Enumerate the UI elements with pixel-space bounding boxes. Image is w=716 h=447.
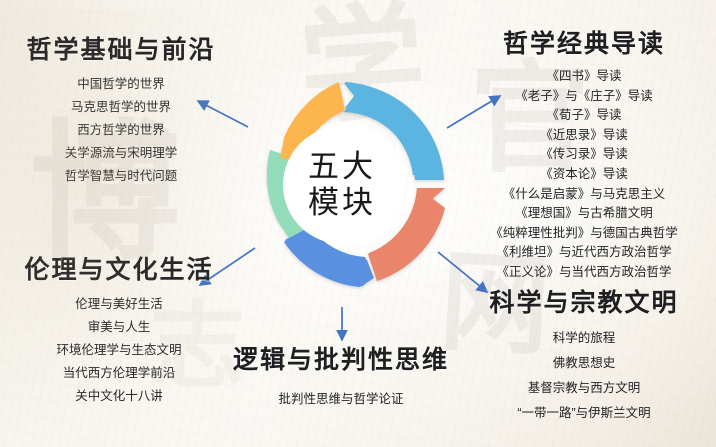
list-item[interactable]: 《四书》导读 (452, 67, 716, 87)
list-item[interactable]: 批判性思维与哲学论证 (216, 388, 466, 410)
module-foundations-list: 中国哲学的世界 马克思哲学的世界 西方哲学的世界 关学源流与宋明理学 哲学智慧与… (6, 73, 236, 188)
list-item[interactable]: 《正义论》与当代西方政治哲学 (452, 263, 716, 283)
list-item[interactable]: 《理想国》与古希腊文明 (452, 204, 716, 224)
ring-inner-disc-top (283, 126, 401, 244)
list-item[interactable]: 审美与人生 (4, 316, 234, 339)
module-classics-list: 《四书》导读 《老子》与《庄子》导读 《荀子》导读 《近思录》导读 《传习录》导… (452, 67, 716, 283)
list-item[interactable]: 中国哲学的世界 (6, 73, 236, 96)
list-item[interactable]: 基督宗教与西方文明 (456, 376, 712, 401)
list-item[interactable]: 当代西方伦理学前沿 (4, 362, 234, 385)
module-foundations: 哲学基础与前沿 中国哲学的世界 马克思哲学的世界 西方哲学的世界 关学源流与宋明… (6, 30, 236, 188)
module-science: 科学与宗教文明 科学的旅程 佛教思想史 基督宗教与西方文明 “一带一路”与伊斯兰… (456, 283, 712, 426)
list-item[interactable]: 《老子》与《庄子》导读 (452, 87, 716, 107)
list-item[interactable]: 《纯粹理性批判》与德国古典哲学 (452, 224, 716, 244)
list-item[interactable]: 《什么是启蒙》与马克思主义 (452, 185, 716, 205)
module-classics: 哲学经典导读 《四书》导读 《老子》与《庄子》导读 《荀子》导读 《近思录》导读… (452, 24, 716, 283)
list-item[interactable]: 科学的旅程 (456, 326, 712, 351)
five-modules-ring: 五大 模块 (227, 70, 457, 300)
list-item[interactable]: 哲学智慧与时代问题 (6, 165, 236, 188)
module-ethics-list: 伦理与美好生活 审美与人生 环境伦理学与生态文明 当代西方伦理学前沿 关中文化十… (4, 293, 234, 408)
list-item[interactable]: 伦理与美好生活 (4, 293, 234, 316)
list-item[interactable]: 环境伦理学与生态文明 (4, 339, 234, 362)
module-classics-title: 哲学经典导读 (452, 24, 716, 60)
list-item[interactable]: 《荀子》导读 (452, 106, 716, 126)
list-item[interactable]: “一带一路”与伊斯兰文明 (456, 401, 712, 426)
list-item[interactable]: 马克思哲学的世界 (6, 96, 236, 119)
list-item[interactable]: 《传习录》导读 (452, 145, 716, 165)
list-item[interactable]: 佛教思想史 (456, 351, 712, 376)
module-science-list: 科学的旅程 佛教思想史 基督宗教与西方文明 “一带一路”与伊斯兰文明 (456, 326, 712, 426)
module-science-title: 科学与宗教文明 (456, 283, 712, 319)
poster-canvas: 博 学 官 网 志 (0, 0, 716, 447)
list-item[interactable]: 关中文化十八讲 (4, 385, 234, 408)
list-item[interactable]: 关学源流与宋明理学 (6, 142, 236, 165)
module-logic-list: 批判性思维与哲学论证 (216, 388, 466, 410)
module-logic: 逻辑与批判性思维 批判性思维与哲学论证 (216, 340, 466, 410)
list-item[interactable]: 《近思录》导读 (452, 126, 716, 146)
module-foundations-title: 哲学基础与前沿 (6, 30, 236, 66)
list-item[interactable]: 《利维坦》与近代西方政治哲学 (452, 243, 716, 263)
list-item[interactable]: 《资本论》导读 (452, 165, 716, 185)
module-ethics-title: 伦理与文化生活 (4, 250, 234, 286)
module-logic-title: 逻辑与批判性思维 (216, 340, 466, 376)
list-item[interactable]: 西方哲学的世界 (6, 119, 236, 142)
module-ethics: 伦理与文化生活 伦理与美好生活 审美与人生 环境伦理学与生态文明 当代西方伦理学… (4, 250, 234, 408)
